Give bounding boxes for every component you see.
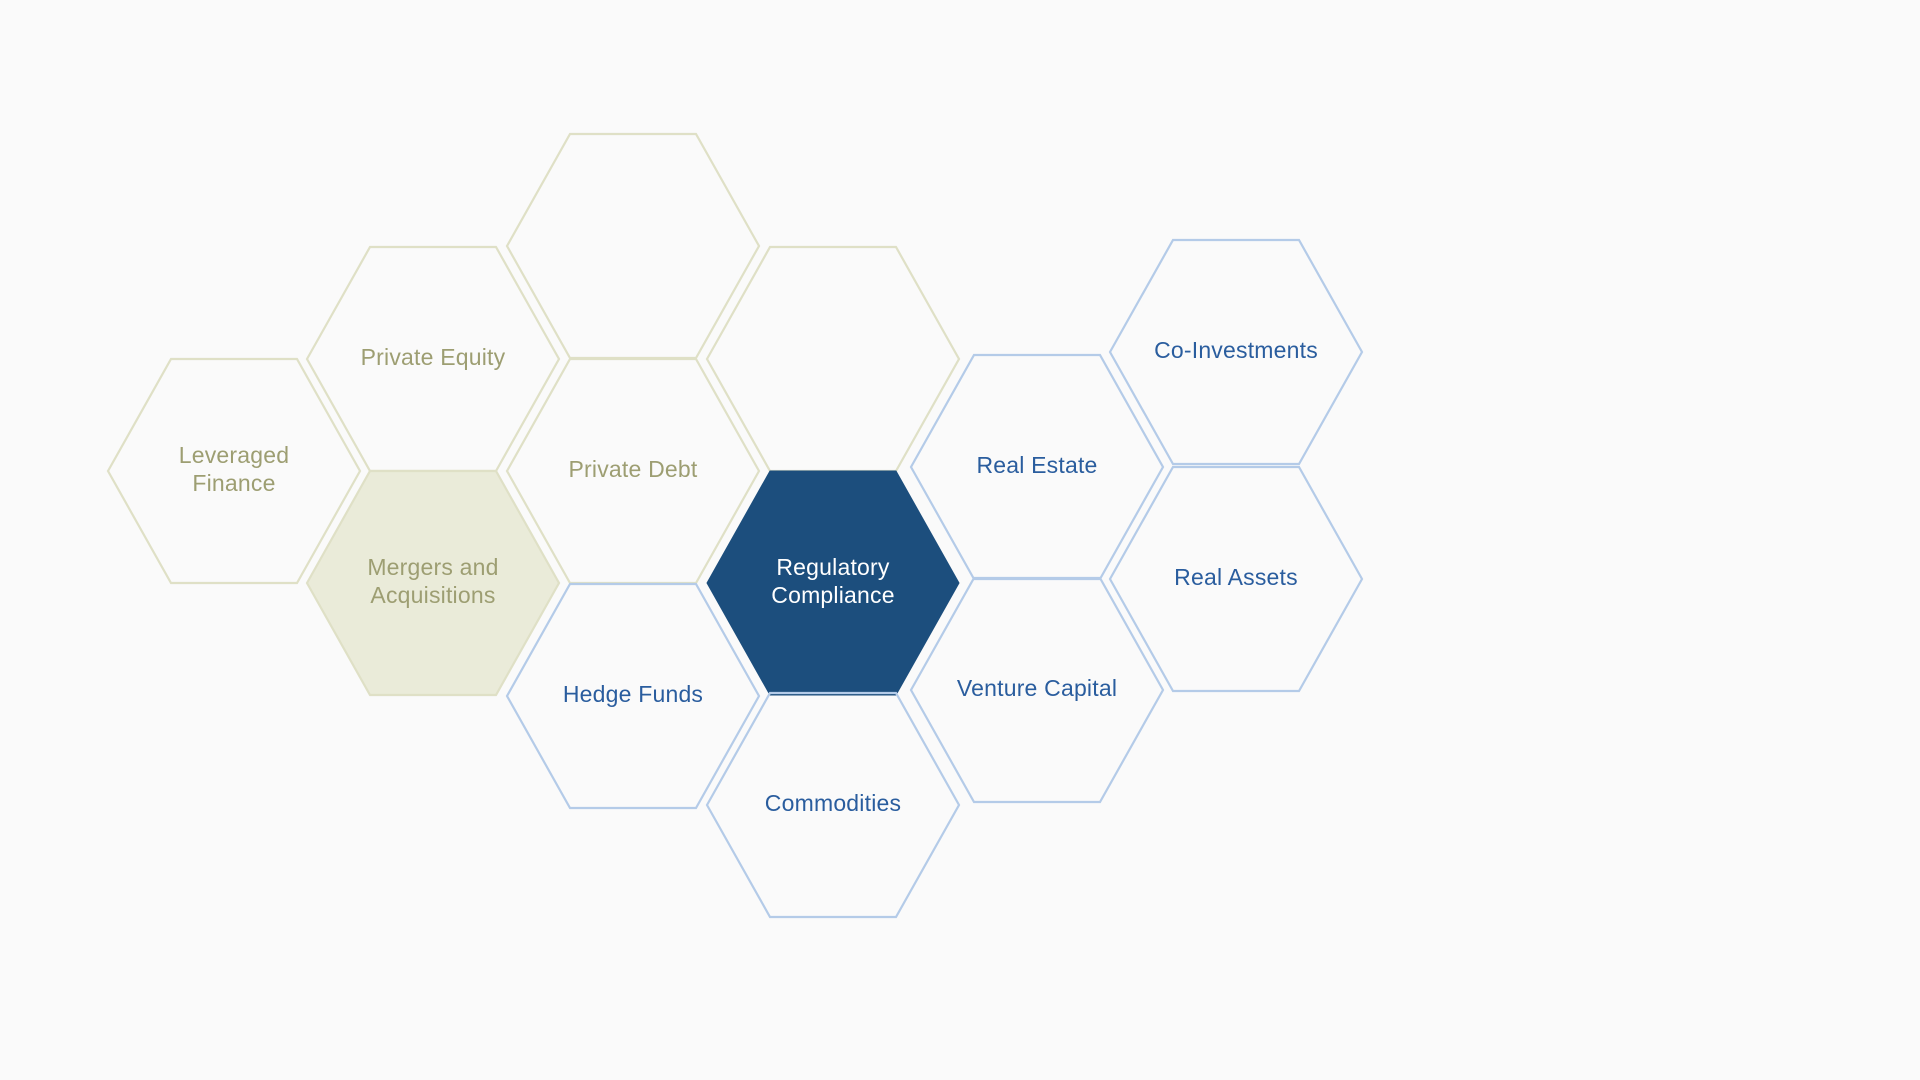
hexagon-label-real-estate: Real Estate xyxy=(976,452,1097,478)
hexagon-label-line: Finance xyxy=(192,470,275,496)
hexagon-mergers-and-acquisitions[interactable]: Mergers andAcquisitions xyxy=(307,471,559,695)
hexagon-label-private-debt: Private Debt xyxy=(569,456,698,482)
hexagon-label-real-assets: Real Assets xyxy=(1174,564,1298,590)
hexagon-commodities[interactable]: Commodities xyxy=(707,693,959,917)
hexagon-empty-top-right[interactable] xyxy=(707,247,959,471)
hexagon-label-leveraged-finance: LeveragedFinance xyxy=(179,442,290,496)
hexagon-label-line: Real Assets xyxy=(1174,564,1298,590)
hexagon-diagram-canvas: LeveragedFinancePrivate EquityMergers an… xyxy=(0,0,1920,1080)
hexagon-label-co-investments: Co-Investments xyxy=(1154,337,1318,363)
hexagon-label-line: Leveraged xyxy=(179,442,290,468)
hexagon-label-line: Venture Capital xyxy=(957,675,1117,701)
hexagon-private-equity[interactable]: Private Equity xyxy=(307,247,559,471)
hexagon-label-commodities: Commodities xyxy=(765,790,901,816)
hexagon-label-line: Mergers and xyxy=(367,554,498,580)
hexagon-label-line: Compliance xyxy=(771,582,894,608)
hexagon-hedge-funds[interactable]: Hedge Funds xyxy=(507,584,759,808)
hexagon-co-investments[interactable]: Co-Investments xyxy=(1110,240,1362,464)
hexagon-label-hedge-funds: Hedge Funds xyxy=(563,681,703,707)
hexagon-real-assets[interactable]: Real Assets xyxy=(1110,467,1362,691)
hexagon-label-line: Private Debt xyxy=(569,456,698,482)
hexagon-label-line: Acquisitions xyxy=(370,582,495,608)
hexagon-honeycomb-map: LeveragedFinancePrivate EquityMergers an… xyxy=(0,0,1920,1080)
hexagon-label-line: Hedge Funds xyxy=(563,681,703,707)
hexagon-label-private-equity: Private Equity xyxy=(361,344,506,370)
hexagon-label-line: Commodities xyxy=(765,790,901,816)
hexagon-label-line: Regulatory xyxy=(776,554,890,580)
hexagon-label-line: Private Equity xyxy=(361,344,506,370)
hexagon-label-line: Co-Investments xyxy=(1154,337,1318,363)
hexagon-regulatory-compliance[interactable]: RegulatoryCompliance xyxy=(707,471,959,695)
hexagon-venture-capital[interactable]: Venture Capital xyxy=(911,578,1163,802)
hexagon-label-line: Real Estate xyxy=(976,452,1097,478)
hexagon-label-venture-capital: Venture Capital xyxy=(957,675,1117,701)
hexagon-private-debt[interactable]: Private Debt xyxy=(507,359,759,583)
hexagon-shape-empty-top-left[interactable] xyxy=(507,134,759,358)
hexagon-empty-top-left[interactable] xyxy=(507,134,759,358)
hexagon-shape-empty-top-right[interactable] xyxy=(707,247,959,471)
hexagon-real-estate[interactable]: Real Estate xyxy=(911,355,1163,579)
hexagon-leveraged-finance[interactable]: LeveragedFinance xyxy=(108,359,360,583)
